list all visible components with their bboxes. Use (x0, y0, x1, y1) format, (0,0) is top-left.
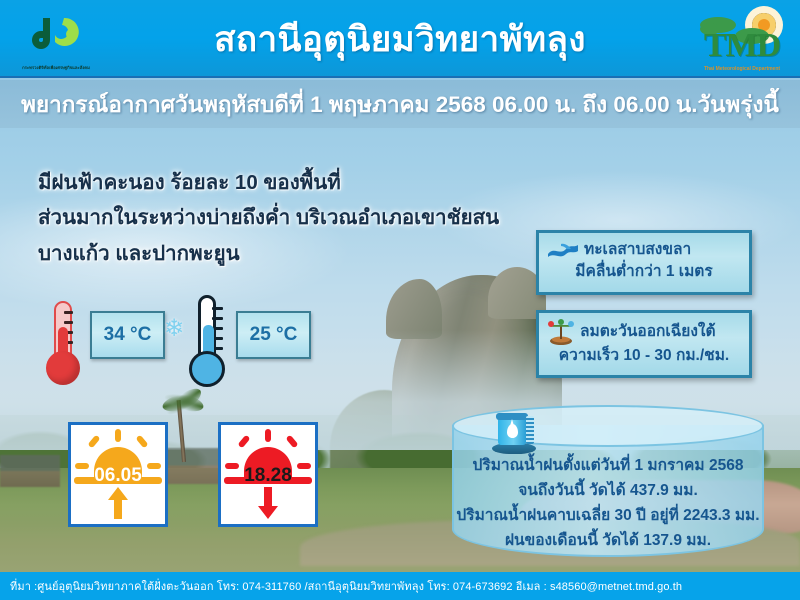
rainfall-text: ปริมาณน้ำฝนตั้งแต่วันที่ 1 มกราคม 2568 จ… (452, 453, 764, 553)
min-temperature-value: 25 °C (236, 311, 311, 359)
tmd-logo-text: TMD (696, 27, 788, 65)
snowflake-icon: ❄ (164, 317, 184, 341)
tmd-logo: TMD Thai Meteorological Department (694, 5, 790, 75)
forecast-date-band: พยากรณ์อากาศวันพฤหัสบดีที่ 1 พฤษภาคม 256… (0, 80, 800, 128)
forecast-description: มีฝนฟ้าคะนอง ร้อยละ 10 ของพื้นที่ ส่วนมา… (38, 165, 508, 271)
wave-icon (547, 242, 579, 258)
wind-speed: ความเร็ว 10 - 30 กม./ชม. (547, 345, 741, 367)
sunset-time: 18.28 (221, 465, 315, 487)
sunset-icon: 18.28 (221, 429, 315, 491)
footer-bar: ที่มา :ศูนย์อุตุนิยมวิทยาภาคใต้ฝั่งตะวัน… (0, 572, 800, 600)
rainfall-line-3: ปริมาณน้ำฝนคาบเฉลี่ย 30 ปี อยู่ที่ 2243.… (452, 503, 764, 528)
rainfall-line-4: ฝนของเดือนนี้ วัดได้ 137.9 มม. (452, 528, 764, 553)
tmd-logo-caption: Thai Meteorological Department (694, 66, 790, 72)
min-thermometer-icon (188, 295, 228, 395)
rainfall-line-1: ปริมาณน้ำฝนตั้งแต่วันที่ 1 มกราคม 2568 (452, 453, 764, 478)
header-bar: กระทรวงดิจิทัลเพื่อเศรษฐกิจและสังคม สถาน… (0, 0, 800, 78)
forecast-line-2: ส่วนมากในระหว่างบ่ายถึงค่ำ บริเวณอำเภอเข… (38, 200, 508, 235)
rainfall-line-2: จนถึงวันนี้ วัดได้ 437.9 มม. (452, 478, 764, 503)
rainfall-section: ปริมาณน้ำฝนตั้งแต่วันที่ 1 มกราคม 2568 จ… (452, 405, 764, 570)
page-title: สถานีอุตุนิยมวิทยาพัทลุง (0, 0, 800, 78)
sea-condition-box: ทะเลสาบสงขลา มีคลื่นต่ำกว่า 1 เมตร (536, 230, 752, 295)
max-temperature-value: 34 °C (90, 311, 165, 359)
sunrise-box: 06.05 (68, 422, 168, 527)
temperature-section: 34 °C ❄ 25 °C (40, 295, 330, 400)
wind-direction: ลมตะวันออกเฉียงใต้ (580, 321, 716, 343)
forecast-line-1: มีฝนฟ้าคะนอง ร้อยละ 10 ของพื้นที่ (38, 165, 508, 200)
forecast-line-3: บางแก้ว และปากพะยูน (38, 236, 508, 271)
sunset-box: 18.28 (218, 422, 318, 527)
max-thermometer-icon (44, 301, 82, 389)
rain-gauge-icon (492, 413, 540, 457)
arrow-down-icon (257, 487, 279, 519)
background-hut-secondary (0, 455, 60, 487)
sea-name: ทะเลสาบสงขลา (584, 239, 691, 261)
sunrise-time: 06.05 (71, 465, 165, 487)
forecast-date-text: พยากรณ์อากาศวันพฤหัสบดีที่ 1 พฤษภาคม 256… (21, 86, 779, 122)
sea-wave-height: มีคลื่นต่ำกว่า 1 เมตร (547, 261, 741, 283)
wind-condition-box: ลมตะวันออกเฉียงใต้ ความเร็ว 10 - 30 กม./… (536, 310, 752, 378)
sunrise-icon: 06.05 (71, 429, 165, 491)
footer-contact-text: ที่มา :ศูนย์อุตุนิยมวิทยาภาคใต้ฝั่งตะวัน… (10, 577, 682, 595)
arrow-up-icon (107, 487, 129, 519)
anemometer-icon (547, 319, 575, 345)
weather-poster: กระทรวงดิจิทัลเพื่อเศรษฐกิจและสังคม สถาน… (0, 0, 800, 600)
